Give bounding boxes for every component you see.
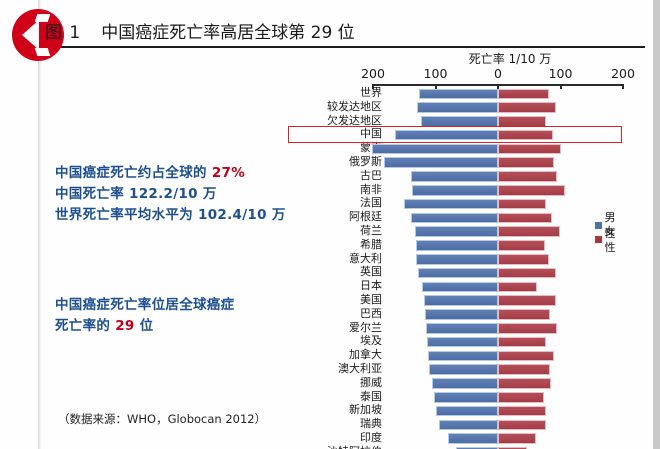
chart-row: 法国 [285,197,625,211]
chart-row: 加拿大 [285,349,625,363]
chart-row: 英国 [285,266,625,280]
chart-row: 较发达地区 [285,101,625,115]
bar-female [498,157,554,168]
chart-row-label: 加拿大 [349,348,382,361]
back-arrow-icon [22,20,39,50]
bar-male [415,226,498,237]
bar-male [384,157,498,168]
chart-row-label: 较发达地区 [327,100,382,113]
bar-female [498,323,557,334]
bar-female [498,185,565,196]
bar-male [429,364,498,375]
callout-block-2: 中国癌症死亡率位居全球癌症 死亡率的 29 位 [55,295,234,337]
chart-row: 南非 [285,184,625,198]
right-edge-strip [653,0,660,449]
bar-female [498,171,557,182]
chart-row-label: 荷兰 [360,224,382,237]
chart-row-label: 中国 [360,127,382,140]
bar-male [395,130,498,141]
bar-male [427,337,498,348]
bar-male [436,406,498,417]
chart-row-label: 爱尔兰 [349,321,382,334]
callout1-line1-prefix: 中国癌症死亡约占全球的 [55,165,212,181]
x-tick-label: 100 [424,66,448,81]
chart-legend: 男性 女性 [595,218,625,246]
bar-female [498,254,549,265]
bar-male [419,89,498,100]
bar-male [404,199,498,210]
callout2-line1: 中国癌症死亡率位居全球癌症 [55,295,234,316]
x-tick-label: 100 [549,66,573,81]
title-underline-rule [52,46,645,48]
bar-male [372,144,498,155]
chart-row-label: 挪威 [360,376,382,389]
callout2-line2-prefix: 死亡率的 [55,318,115,334]
bar-male [432,378,498,389]
chart-row: 阿根廷 [285,211,625,225]
figure-header: 图 1 中国癌症死亡率高居全球第 29 位 [45,18,645,46]
figure-number: 图 1 [45,18,81,43]
bar-male [416,254,498,265]
figure-page: 图 1 中国癌症死亡率高居全球第 29 位 中国癌症死亡约占全球的 27% 中国… [0,0,660,449]
chart-row-label: 南非 [360,183,382,196]
chart-row-label: 新加坡 [349,403,382,416]
chart-row: 新加坡 [285,404,625,418]
bar-female [498,89,549,100]
chart-row-label: 美国 [360,293,382,306]
callout1-line1: 中国癌症死亡约占全球的 27% [55,163,286,184]
bar-female [498,420,546,431]
chart-row-label: 意大利 [349,252,382,265]
bar-female [498,433,536,444]
chart-row-label: 阿根廷 [349,210,382,223]
chart-row-label: 泰国 [360,390,382,403]
chart-row: 埃及 [285,335,625,349]
bar-female [498,116,546,127]
bar-male [426,323,499,334]
chart-row: 澳大利亚 [285,363,625,377]
chart-row: 希腊 [285,239,625,253]
chart-row: 印度 [285,432,625,446]
logo-notch-bottom [35,48,51,56]
source-note: （数据来源：WHO，Globocan 2012） [58,411,266,427]
callout1-line1-highlight: 27% [212,165,245,181]
bar-female [498,240,545,251]
pyramid-chart: 死亡率 1/10 万 2001000100200 世界较发达地区欠发达地区中国蒙… [285,50,625,445]
chart-row: 古巴 [285,170,625,184]
chart-row-label: 古巴 [360,169,382,182]
chart-row: 瑞典 [285,418,625,432]
bar-male [412,185,498,196]
bar-male [416,240,499,251]
chart-row: 中国 [285,128,625,142]
chart-row: 荷兰 [285,225,625,239]
callout1-line3: 世界死亡率平均水平为 102.4/10 万 [55,205,286,226]
bar-male [439,420,498,431]
x-tick-label: 200 [611,66,635,81]
chart-row-label: 俄罗斯 [349,155,382,168]
bar-male [421,116,499,127]
bar-female [498,268,556,279]
legend-swatch-male-icon [595,222,602,229]
bar-male [411,213,499,224]
bar-male [434,392,498,403]
chart-row: 蒙古 [285,142,625,156]
chart-rows: 世界较发达地区欠发达地区中国蒙古俄罗斯古巴南非法国阿根廷荷兰希腊意大利英国日本美… [285,87,625,449]
bar-male [428,351,498,362]
chart-row-label: 世界 [360,86,382,99]
chart-row-label: 日本 [360,279,382,292]
x-tick-label: 200 [361,66,385,81]
bar-female [498,406,546,417]
bar-female [498,144,561,155]
bar-female [498,351,554,362]
chart-row: 意大利 [285,253,625,267]
chart-row: 日本 [285,280,625,294]
legend-item-female: 女性 [595,232,625,246]
bar-male [424,295,498,306]
bar-male [417,102,498,113]
bar-female [498,337,546,348]
chart-row-label: 瑞典 [360,417,382,430]
chart-row: 挪威 [285,377,625,391]
callout-block-1: 中国癌症死亡约占全球的 27% 中国死亡率 122.2/10 万 世界死亡率平均… [55,163,286,226]
chart-row-label: 希腊 [360,238,382,251]
bar-female [498,199,546,210]
chart-row-label: 沙特阿拉伯 [327,445,382,449]
chart-row: 美国 [285,294,625,308]
callout2-line2-highlight: 29 [115,318,134,334]
chart-row-label: 巴西 [360,307,382,320]
figure-title: 中国癌症死亡率高居全球第 29 位 [101,18,354,43]
bar-female [498,226,560,237]
chart-row-label: 英国 [360,265,382,278]
bar-female [498,392,544,403]
chart-row: 泰国 [285,391,625,405]
callout2-line2-suffix: 位 [135,318,154,334]
bar-female [498,102,556,113]
bar-female [498,309,550,320]
bar-male [425,309,498,320]
bar-female [498,295,556,306]
callout1-line2: 中国死亡率 122.2/10 万 [55,184,286,205]
chart-row-label: 欠发达地区 [327,114,382,127]
chart-row-label: 澳大利亚 [338,362,382,375]
callout2-line2: 死亡率的 29 位 [55,316,234,337]
x-axis-tick-labels: 2001000100200 [285,66,625,82]
bar-male [448,433,498,444]
chart-row-label: 埃及 [360,334,382,347]
bar-female [498,282,537,293]
bar-male [418,268,498,279]
chart-row: 俄罗斯 [285,156,625,170]
chart-row-label: 印度 [360,431,382,444]
bar-female [498,378,551,389]
bar-male [422,282,498,293]
legend-swatch-female-icon [595,236,602,243]
chart-axis-title: 死亡率 1/10 万 [430,50,590,67]
chart-row: 巴西 [285,308,625,322]
bar-female [498,364,550,375]
x-tick-label: 0 [494,66,502,81]
chart-row: 世界 [285,87,625,101]
chart-row: 爱尔兰 [285,322,625,336]
left-divider [38,0,42,449]
bar-male [411,171,499,182]
chart-row: 欠发达地区 [285,115,625,129]
bar-female [498,213,552,224]
chart-row-label: 法国 [360,196,382,209]
legend-label-female: 女性 [605,223,625,255]
bar-female [498,130,553,141]
